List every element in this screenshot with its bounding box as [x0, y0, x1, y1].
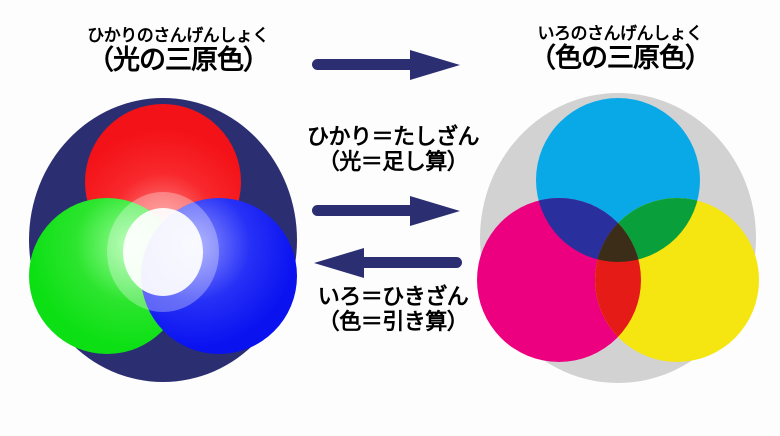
right-title-main: （色の三原色） [480, 45, 760, 73]
rgb-additive-diagram [25, 100, 305, 390]
illustration-canvas: ひかりのさんげんしょく （光の三原色） いろのさんげんしょく （色の三原色） ひ… [0, 0, 780, 436]
cmy-subtractive-diagram [478, 96, 763, 391]
additive-caption-ruby: ひかり＝たしざん [278, 126, 508, 151]
arrow-right-top-icon [312, 48, 462, 82]
right-title-ruby: いろのさんげんしょく [480, 26, 760, 44]
right-diagram-title: いろのさんげんしょく （色の三原色） [480, 26, 760, 73]
subtractive-caption-main: （色＝引き算） [278, 311, 508, 336]
left-title-main: （光の三原色） [38, 47, 318, 75]
additive-caption-main: （光＝足し算） [278, 151, 508, 176]
left-diagram-title: ひかりのさんげんしょく （光の三原色） [38, 28, 318, 75]
left-title-ruby: ひかりのさんげんしょく [38, 28, 318, 46]
additive-caption: ひかり＝たしざん （光＝足し算） [278, 126, 508, 175]
arrow-left-bottom-icon [312, 246, 462, 280]
subtractive-caption-ruby: いろ＝ひきざん [278, 286, 508, 311]
arrow-right-middle-icon [312, 194, 462, 228]
rgb-white-center-glow [107, 192, 219, 312]
subtractive-caption: いろ＝ひきざん （色＝引き算） [278, 286, 508, 335]
